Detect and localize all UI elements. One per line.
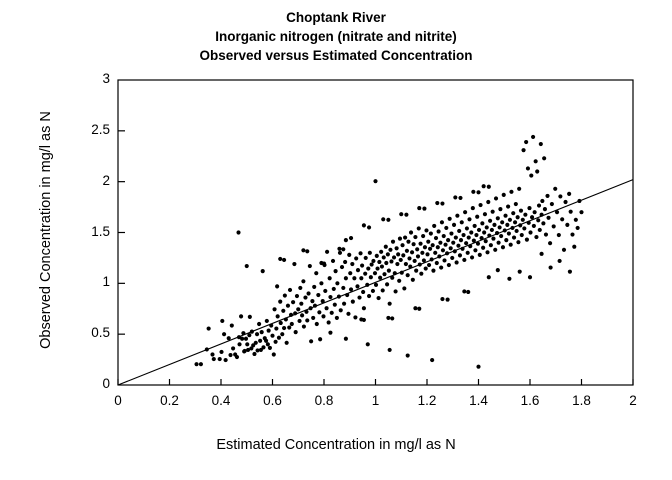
scatter-point — [503, 228, 507, 232]
scatter-point — [534, 159, 538, 163]
scatter-point — [482, 184, 486, 188]
scatter-point — [389, 259, 393, 263]
scatter-point — [401, 253, 405, 257]
scatter-point — [311, 316, 315, 320]
scatter-point — [440, 220, 444, 224]
scatter-point — [489, 243, 493, 247]
scatter-point — [331, 259, 335, 263]
scatter-point — [488, 219, 492, 223]
scatter-point — [269, 323, 273, 327]
x-tick-label: 0.8 — [304, 393, 344, 408]
scatter-point — [475, 215, 479, 219]
scatter-point — [260, 330, 264, 334]
scatter-point — [255, 332, 259, 336]
scatter-point — [447, 263, 451, 267]
scatter-point — [418, 242, 422, 246]
scatter-point — [434, 236, 438, 240]
x-tick-label: 0.2 — [150, 393, 190, 408]
scatter-point — [435, 201, 439, 205]
scatter-point — [487, 233, 491, 237]
scatter-point — [327, 320, 331, 324]
scatter-point — [452, 223, 456, 227]
scatter-point — [491, 237, 495, 241]
scatter-point — [399, 212, 403, 216]
scatter-point — [517, 187, 521, 191]
scatter-point — [353, 315, 357, 319]
scatter-point — [403, 236, 407, 240]
scatter-point — [435, 261, 439, 265]
scatter-point — [288, 288, 292, 292]
scatter-point — [425, 252, 429, 256]
scatter-point — [261, 269, 265, 273]
scatter-point — [384, 261, 388, 265]
scatter-point — [438, 241, 442, 245]
scatter-point — [386, 252, 390, 256]
scatter-point — [509, 243, 513, 247]
scatter-point — [523, 213, 527, 217]
scatter-point — [407, 256, 411, 260]
scatter-point — [272, 352, 276, 356]
scatter-point — [495, 231, 499, 235]
scatter-point — [275, 284, 279, 288]
scatter-point — [496, 216, 500, 220]
scatter-point — [481, 246, 485, 250]
scatter-point — [413, 306, 417, 310]
scatter-point — [557, 233, 561, 237]
scatter-point — [366, 267, 370, 271]
scatter-point — [413, 259, 417, 263]
scatter-point — [258, 339, 262, 343]
scatter-point — [362, 306, 366, 310]
scatter-point — [373, 271, 377, 275]
scatter-point — [532, 224, 536, 228]
scatter-point — [312, 285, 316, 289]
scatter-point — [484, 239, 488, 243]
x-tick-label: 1.8 — [562, 393, 602, 408]
scatter-point — [496, 268, 500, 272]
scatter-point — [497, 241, 501, 245]
scatter-point — [455, 214, 459, 218]
scatter-point — [417, 307, 421, 311]
scatter-point — [381, 217, 385, 221]
scatter-point — [306, 291, 310, 295]
scatter-point — [237, 342, 241, 346]
scatter-point — [325, 306, 329, 310]
scatter-point — [345, 293, 349, 297]
scatter-point — [393, 271, 397, 275]
scatter-point — [518, 270, 522, 274]
scatter-point — [241, 331, 245, 335]
scatter-point — [356, 268, 360, 272]
scatter-point — [411, 278, 415, 282]
scatter-point — [301, 248, 305, 252]
scatter-point — [432, 224, 436, 228]
scatter-point — [473, 248, 477, 252]
scatter-point — [305, 249, 309, 253]
scatter-point — [478, 253, 482, 257]
scatter-point — [222, 332, 226, 336]
scatter-point — [483, 212, 487, 216]
scatter-point — [433, 251, 437, 255]
scatter-point — [541, 221, 545, 225]
scatter-point — [419, 272, 423, 276]
scatter-point — [300, 313, 304, 317]
scatter-point — [408, 264, 412, 268]
scatter-point — [520, 233, 524, 237]
scatter-point — [440, 297, 444, 301]
scatter-point — [377, 260, 381, 264]
scatter-point — [574, 218, 578, 222]
scatter-point — [248, 315, 252, 319]
scatter-point — [287, 325, 291, 329]
x-axis-label: Estimated Concentration in mg/l as N — [0, 437, 672, 453]
scatter-point — [267, 329, 271, 333]
y-axis-label: Observed Concentration in mg/l as N — [38, 70, 54, 390]
y-tick-label: 0.5 — [70, 325, 110, 340]
scatter-point — [366, 342, 370, 346]
scatter-point — [261, 345, 265, 349]
scatter-point — [503, 214, 507, 218]
scatter-point — [460, 247, 464, 251]
scatter-point — [284, 317, 288, 321]
scatter-point — [442, 258, 446, 262]
axes-frame — [118, 80, 633, 385]
scatter-point — [421, 234, 425, 238]
scatter-point — [534, 235, 538, 239]
scatter-point — [525, 238, 529, 242]
scatter-point — [385, 282, 389, 286]
scatter-point — [476, 365, 480, 369]
scatter-point — [314, 271, 318, 275]
scatter-point — [305, 318, 309, 322]
scatter-point — [335, 281, 339, 285]
scatter-point — [562, 248, 566, 252]
scatter-point — [527, 221, 531, 225]
scatter-point — [439, 266, 443, 270]
scatter-point — [342, 302, 346, 306]
scatter-point — [528, 230, 532, 234]
x-tick-label: 1.4 — [459, 393, 499, 408]
scatter-point — [437, 254, 441, 258]
scatter-point — [579, 210, 583, 214]
scatter-point — [352, 276, 356, 280]
scatter-point — [449, 231, 453, 235]
scatter-point — [490, 228, 494, 232]
scatter-point — [282, 326, 286, 330]
scatter-point — [471, 206, 475, 210]
scatter-point — [358, 251, 362, 255]
scatter-point — [549, 266, 553, 270]
scatter-point — [444, 226, 448, 230]
x-tick-label: 1.2 — [407, 393, 447, 408]
scatter-point — [555, 210, 559, 214]
scatter-point — [567, 192, 571, 196]
scatter-point — [357, 296, 361, 300]
scatter-point — [548, 241, 552, 245]
scatter-point — [367, 294, 371, 298]
scatter-point — [298, 286, 302, 290]
scatter-point — [365, 283, 369, 287]
reference-line — [118, 180, 633, 385]
scatter-point — [343, 260, 347, 264]
scatter-point — [274, 327, 278, 331]
scatter-point — [349, 236, 353, 240]
x-tick-label: 1.6 — [510, 393, 550, 408]
scatter-point — [361, 290, 365, 294]
chart-figure: Choptank River Inorganic nitrogen (nitra… — [0, 0, 672, 480]
scatter-point — [382, 272, 386, 276]
scatter-point — [436, 245, 440, 249]
scatter-point — [510, 226, 514, 230]
scatter-point — [552, 224, 556, 228]
scatter-point — [480, 236, 484, 240]
scatter-point — [572, 245, 576, 249]
scatter-point — [340, 265, 344, 269]
scatter-point — [558, 194, 562, 198]
scatter-point — [371, 259, 375, 263]
scatter-point — [280, 332, 284, 336]
scatter-point — [368, 251, 372, 255]
scatter-point — [244, 337, 248, 341]
scatter-point — [451, 241, 455, 245]
scatter-point — [272, 307, 276, 311]
scatter-point — [309, 306, 313, 310]
scatter-point — [530, 215, 534, 219]
scatter-point — [328, 276, 332, 280]
y-tick-label: 2.5 — [70, 122, 110, 137]
scatter-point — [332, 287, 336, 291]
scatter-point — [540, 213, 544, 217]
scatter-point — [289, 313, 293, 317]
scatter-point — [568, 270, 572, 274]
scatter-point — [240, 337, 244, 341]
scatter-point — [266, 342, 270, 346]
scatter-point — [494, 196, 498, 200]
scatter-point — [456, 244, 460, 248]
scatter-point — [493, 248, 497, 252]
scatter-point — [400, 271, 404, 275]
scatter-point — [406, 353, 410, 357]
scatter-point — [491, 210, 495, 214]
scatter-point — [334, 269, 338, 273]
scatter-point — [348, 271, 352, 275]
scatter-point — [441, 248, 445, 252]
scatter-point — [405, 249, 409, 253]
scatter-point — [485, 225, 489, 229]
scatter-point — [498, 207, 502, 211]
scatter-point — [443, 243, 447, 247]
scatter-point — [363, 272, 367, 276]
scatter-point — [457, 229, 461, 233]
scatter-point — [521, 218, 525, 222]
scatter-point — [370, 262, 374, 266]
scatter-point — [448, 217, 452, 221]
scatter-point — [464, 241, 468, 245]
scatter-point — [410, 250, 414, 254]
scatter-point — [337, 294, 341, 298]
scatter-point — [274, 340, 278, 344]
scatter-point — [277, 336, 281, 340]
scatter-point — [339, 308, 343, 312]
scatter-point — [513, 220, 517, 224]
scatter-point — [515, 229, 519, 233]
scatter-point — [362, 223, 366, 227]
y-tick-label: 1 — [70, 274, 110, 289]
scatter-point — [390, 316, 394, 320]
scatter-point — [501, 245, 505, 249]
scatter-point — [424, 267, 428, 271]
scatter-point — [449, 246, 453, 250]
scatter-point — [310, 299, 314, 303]
scatter-point — [349, 287, 353, 291]
scatter-point — [417, 226, 421, 230]
scatter-point — [236, 230, 240, 234]
x-tick-label: 1 — [356, 393, 396, 408]
scatter-point — [218, 357, 222, 361]
scatter-point — [328, 295, 332, 299]
scatter-point — [239, 314, 243, 318]
scatter-point — [437, 229, 441, 233]
scatter-point — [279, 321, 283, 325]
scatter-point — [446, 298, 450, 302]
scatter-point — [382, 255, 386, 259]
scatter-point — [227, 336, 231, 340]
scatter-point — [538, 228, 542, 232]
scatter-point — [462, 289, 466, 293]
scatter-point — [577, 199, 581, 203]
scatter-point — [563, 200, 567, 204]
scatter-point — [499, 234, 503, 238]
scatter-point — [542, 156, 546, 160]
scatter-point — [397, 279, 401, 283]
scatter-point — [362, 318, 366, 322]
scatter-point — [544, 232, 548, 236]
scatter-point — [375, 254, 379, 258]
scatter-point — [268, 346, 272, 350]
scatter-point — [270, 334, 274, 338]
scatter-point — [487, 275, 491, 279]
scatter-point — [199, 362, 203, 366]
scatter-point — [430, 257, 434, 261]
scatter-point — [220, 319, 224, 323]
scatter-point — [377, 296, 381, 300]
scatter-point — [346, 312, 350, 316]
scatter-point — [470, 255, 474, 259]
scatter-point — [235, 355, 239, 359]
scatter-point — [328, 331, 332, 335]
scatter-point — [404, 213, 408, 217]
scatter-point — [325, 250, 329, 254]
scatter-point — [245, 342, 249, 346]
scatter-point — [386, 218, 390, 222]
scatter-point — [527, 206, 531, 210]
scatter-point — [364, 256, 368, 260]
scatter-point — [569, 210, 573, 214]
scatter-point — [373, 179, 377, 183]
scatter-point — [416, 254, 420, 258]
scatter-point — [415, 247, 419, 251]
scatter-point — [323, 289, 327, 293]
scatter-point — [293, 311, 297, 315]
scatter-point — [565, 223, 569, 227]
scatter-point — [292, 262, 296, 266]
scatter-point — [446, 238, 450, 242]
scatter-point — [531, 135, 535, 139]
scatter-point — [341, 247, 345, 251]
scatter-point — [545, 194, 549, 198]
scatter-point — [477, 228, 481, 232]
scatter-point — [301, 279, 305, 283]
scatter-point — [427, 263, 431, 267]
scatter-point — [390, 276, 394, 280]
scatter-point — [318, 337, 322, 341]
scatter-point — [219, 350, 223, 354]
scatter-point — [467, 217, 471, 221]
scatter-point — [414, 269, 418, 273]
scatter-point — [504, 238, 508, 242]
scatter-point — [303, 296, 307, 300]
scatter-point — [313, 304, 317, 308]
scatter-point — [533, 210, 537, 214]
scatter-point — [250, 330, 254, 334]
scatter-point — [476, 242, 480, 246]
scatter-point — [283, 293, 287, 297]
one-to-one-reference-line — [118, 180, 633, 385]
scatter-point — [420, 251, 424, 255]
scatter-point — [473, 224, 477, 228]
scatter-point — [374, 283, 378, 287]
scatter-point — [286, 304, 290, 308]
scatter-point — [381, 288, 385, 292]
scatter-point — [347, 253, 351, 257]
scatter-point — [265, 319, 269, 323]
scatter-point — [454, 236, 458, 240]
scatter-point — [413, 235, 417, 239]
scatter-point — [257, 322, 261, 326]
scatter-point — [540, 199, 544, 203]
scatter-point — [394, 289, 398, 293]
scatter-point — [466, 290, 470, 294]
scatter-point — [458, 196, 462, 200]
scatter-point — [518, 223, 522, 227]
scatter-point — [498, 225, 502, 229]
scatter-point — [308, 264, 312, 268]
scatter-point — [399, 258, 403, 262]
scatter-point — [299, 302, 303, 306]
scatter-point — [302, 324, 306, 328]
scatter-point — [245, 264, 249, 268]
scatter-point — [487, 185, 491, 189]
scatter-point — [478, 203, 482, 207]
scatter-point — [550, 202, 554, 206]
scatter-point — [354, 256, 358, 260]
scatter-point — [423, 245, 427, 249]
scatter-point — [459, 238, 463, 242]
scatter-point — [379, 250, 383, 254]
scatter-point — [560, 217, 564, 221]
scatter-point — [264, 339, 268, 343]
scatter-point — [380, 264, 384, 268]
scatter-point — [576, 226, 580, 230]
scatter-point — [402, 286, 406, 290]
scatter-point — [278, 257, 282, 261]
scatter-point — [341, 286, 345, 290]
scatter-point — [522, 226, 526, 230]
scatter-point — [210, 352, 214, 356]
scatter-point — [455, 260, 459, 264]
scatter-point — [509, 190, 513, 194]
scatter-point — [355, 284, 359, 288]
